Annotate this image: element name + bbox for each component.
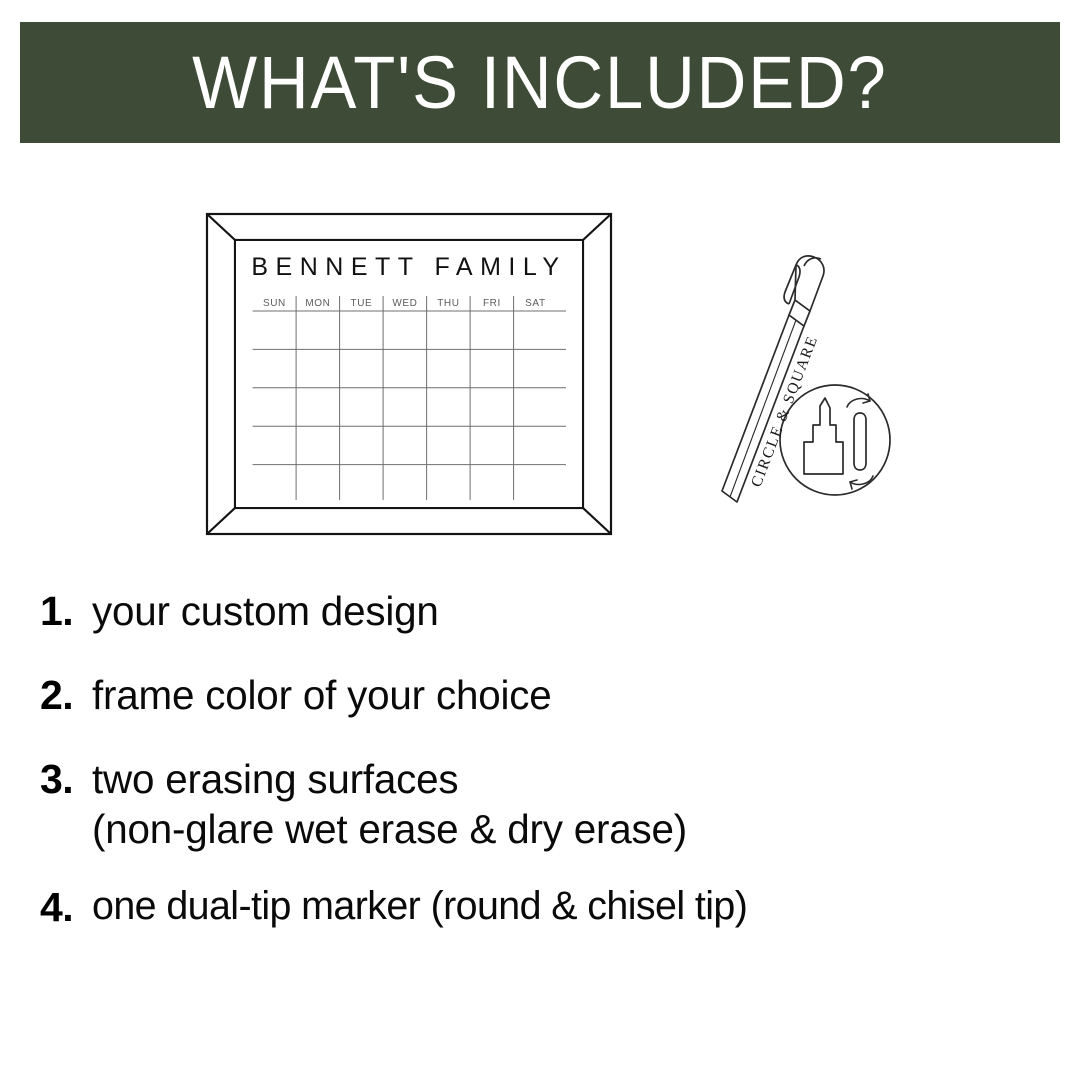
list-item: 3. two erasing surfaces (non-glare wet e… <box>0 754 1080 854</box>
list-item-number: 2. <box>0 670 92 720</box>
day-label: SAT <box>525 298 546 309</box>
list-item-text: two erasing surfaces (non-glare wet eras… <box>92 754 1065 854</box>
day-label: FRI <box>483 298 501 309</box>
list-item: 1. your custom design <box>0 586 1080 636</box>
day-label: THU <box>437 298 459 309</box>
list-item-line2: (non-glare wet erase & dry erase) <box>92 804 1065 854</box>
calendar-board-illustration: BENNETT FAMILY SUN MON TUE WED THU FRI S… <box>205 212 613 536</box>
marker-illustration: CIRCLE & SQUARE <box>700 220 900 520</box>
product-illustration: BENNETT FAMILY SUN MON TUE WED THU FRI S… <box>0 160 1080 580</box>
day-label: TUE <box>350 298 372 309</box>
day-label: WED <box>392 298 417 309</box>
header-banner: WHAT'S INCLUDED? <box>20 22 1060 143</box>
day-label: MON <box>305 298 330 309</box>
list-item-text: your custom design <box>92 586 1065 636</box>
marker-cap <box>795 256 824 311</box>
day-label: SUN <box>263 298 286 309</box>
page-title: WHAT'S INCLUDED? <box>192 46 887 120</box>
list-item: 4. one dual-tip marker (round & chisel t… <box>0 882 1080 932</box>
list-item: 2. frame color of your choice <box>0 670 1080 720</box>
included-items-list: 1. your custom design 2. frame color of … <box>0 586 1080 966</box>
list-item-line1: two erasing surfaces <box>92 756 458 802</box>
list-item-number: 4. <box>0 882 92 932</box>
list-item-line1: one dual-tip marker (round & chisel tip) <box>92 884 747 928</box>
list-item-text: frame color of your choice <box>92 670 1065 720</box>
list-item-number: 1. <box>0 586 92 636</box>
list-item-line1: your custom design <box>92 588 439 634</box>
board-title: BENNETT FAMILY <box>251 253 566 281</box>
list-item-text: one dual-tip marker (round & chisel tip) <box>92 882 1065 931</box>
list-item-number: 3. <box>0 754 92 804</box>
list-item-line1: frame color of your choice <box>92 672 552 718</box>
